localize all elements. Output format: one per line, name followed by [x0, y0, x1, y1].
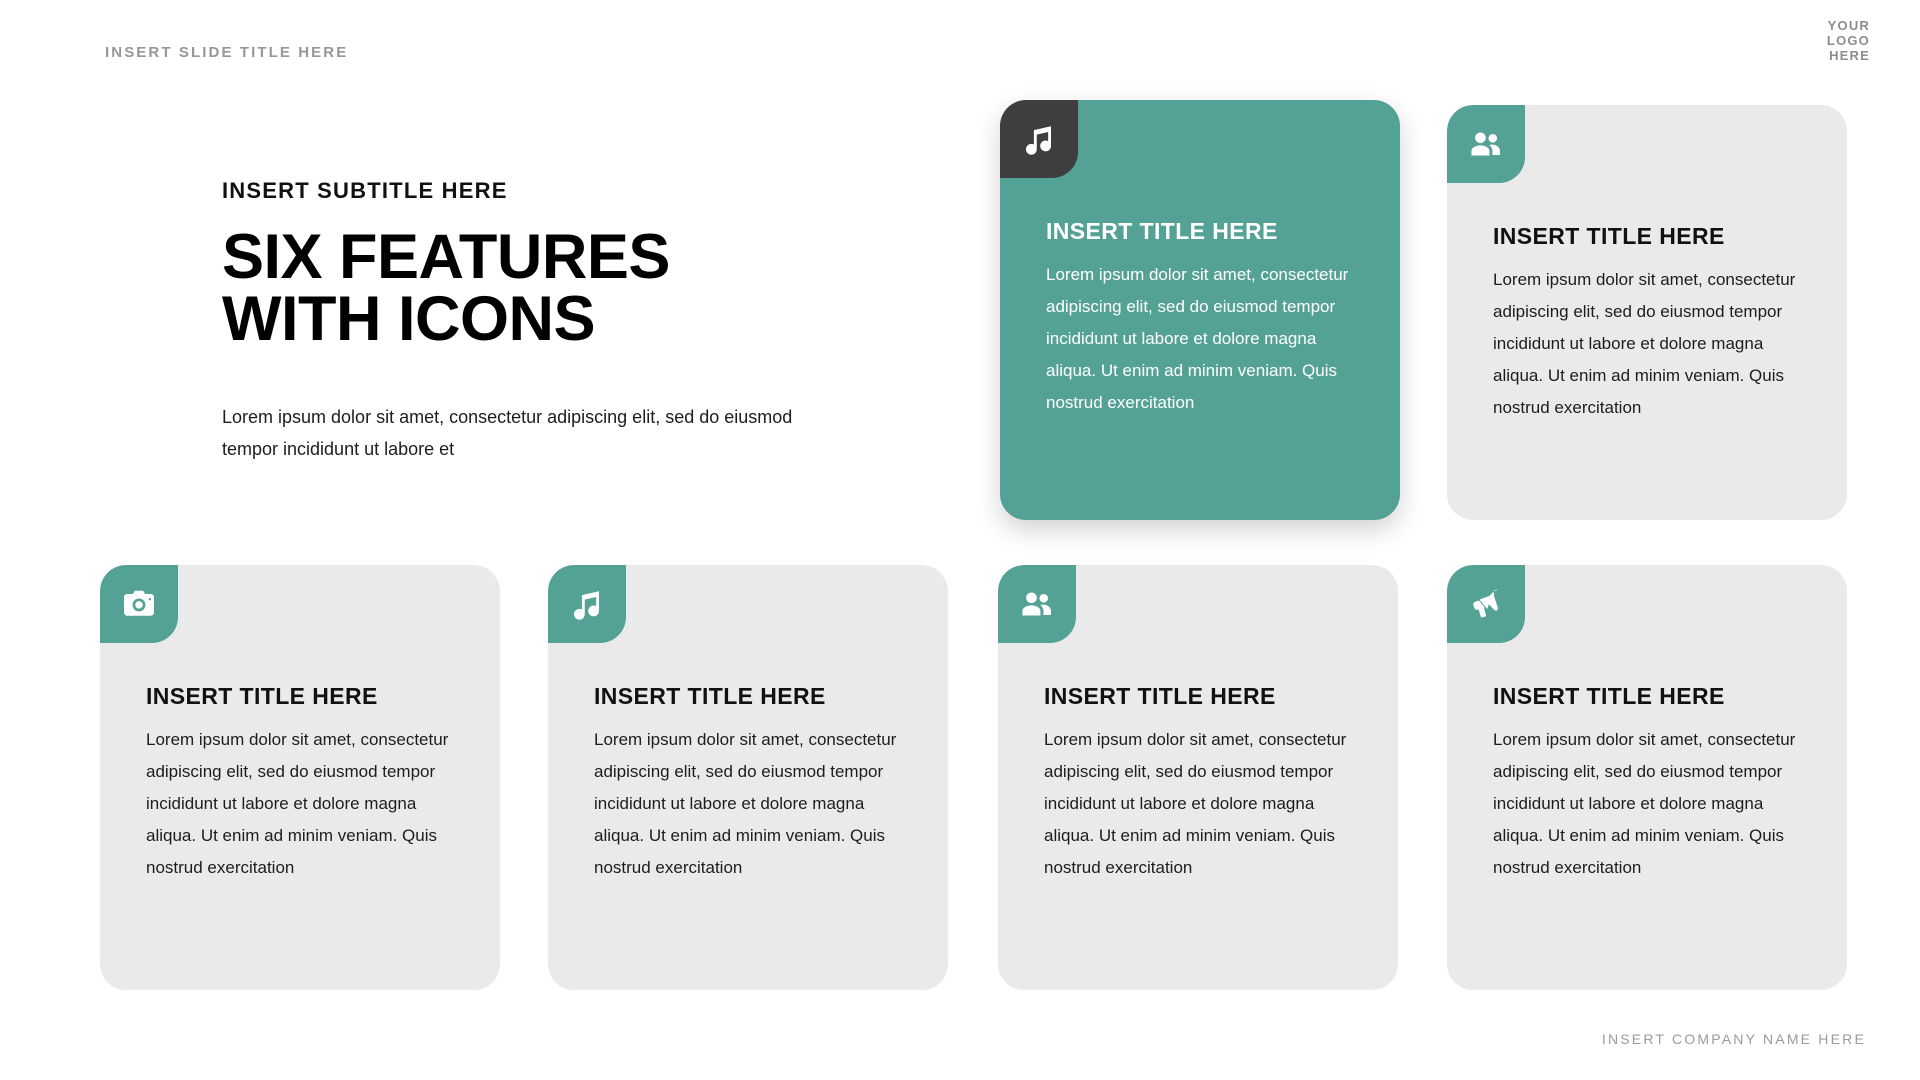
music-note-icon: [1000, 100, 1078, 178]
card-body: INSERT TITLE HERE Lorem ipsum dolor sit …: [1493, 223, 1817, 424]
footer-company-name: INSERT COMPANY NAME HERE: [1602, 1031, 1866, 1047]
card-body: INSERT TITLE HERE Lorem ipsum dolor sit …: [1493, 683, 1817, 884]
card-title: INSERT TITLE HERE: [1044, 683, 1368, 710]
card-body: INSERT TITLE HERE Lorem ipsum dolor sit …: [594, 683, 918, 884]
card-text: Lorem ipsum dolor sit amet, consectetur …: [1493, 264, 1817, 424]
feature-card[interactable]: INSERT TITLE HERE Lorem ipsum dolor sit …: [548, 565, 948, 990]
intro-block: INSERT SUBTITLE HERE SIX FEATURES WITH I…: [222, 178, 822, 465]
people-icon: [998, 565, 1076, 643]
logo-line-1: YOUR: [1827, 18, 1870, 33]
card-title: INSERT TITLE HERE: [146, 683, 470, 710]
card-title: INSERT TITLE HERE: [594, 683, 918, 710]
logo-placeholder: YOUR LOGO HERE: [1827, 18, 1870, 63]
feature-card[interactable]: INSERT TITLE HERE Lorem ipsum dolor sit …: [1447, 565, 1847, 990]
music-note-icon: [548, 565, 626, 643]
card-text: Lorem ipsum dolor sit amet, consectetur …: [146, 724, 470, 884]
intro-body-text: Lorem ipsum dolor sit amet, consectetur …: [222, 401, 802, 465]
logo-line-3: HERE: [1827, 48, 1870, 63]
feature-card[interactable]: INSERT TITLE HERE Lorem ipsum dolor sit …: [100, 565, 500, 990]
camera-icon: [100, 565, 178, 643]
card-text: Lorem ipsum dolor sit amet, consectetur …: [1493, 724, 1817, 884]
card-body: INSERT TITLE HERE Lorem ipsum dolor sit …: [1044, 683, 1368, 884]
card-title: INSERT TITLE HERE: [1493, 223, 1817, 250]
intro-subtitle: INSERT SUBTITLE HERE: [222, 178, 822, 204]
card-title: INSERT TITLE HERE: [1493, 683, 1817, 710]
card-text: Lorem ipsum dolor sit amet, consectetur …: [1046, 259, 1370, 419]
card-text: Lorem ipsum dolor sit amet, consectetur …: [594, 724, 918, 884]
feature-card[interactable]: INSERT TITLE HERE Lorem ipsum dolor sit …: [1447, 105, 1847, 520]
card-body: INSERT TITLE HERE Lorem ipsum dolor sit …: [146, 683, 470, 884]
feature-card[interactable]: INSERT TITLE HERE Lorem ipsum dolor sit …: [998, 565, 1398, 990]
card-title: INSERT TITLE HERE: [1046, 218, 1370, 245]
slide-title: INSERT SLIDE TITLE HERE: [105, 44, 348, 61]
card-text: Lorem ipsum dolor sit amet, consectetur …: [1044, 724, 1368, 884]
megaphone-icon: [1447, 565, 1525, 643]
logo-line-2: LOGO: [1827, 33, 1870, 48]
card-body: INSERT TITLE HERE Lorem ipsum dolor sit …: [1046, 218, 1370, 419]
page-title: SIX FEATURES WITH ICONS: [222, 226, 822, 351]
people-icon: [1447, 105, 1525, 183]
feature-card[interactable]: INSERT TITLE HERE Lorem ipsum dolor sit …: [1000, 100, 1400, 520]
